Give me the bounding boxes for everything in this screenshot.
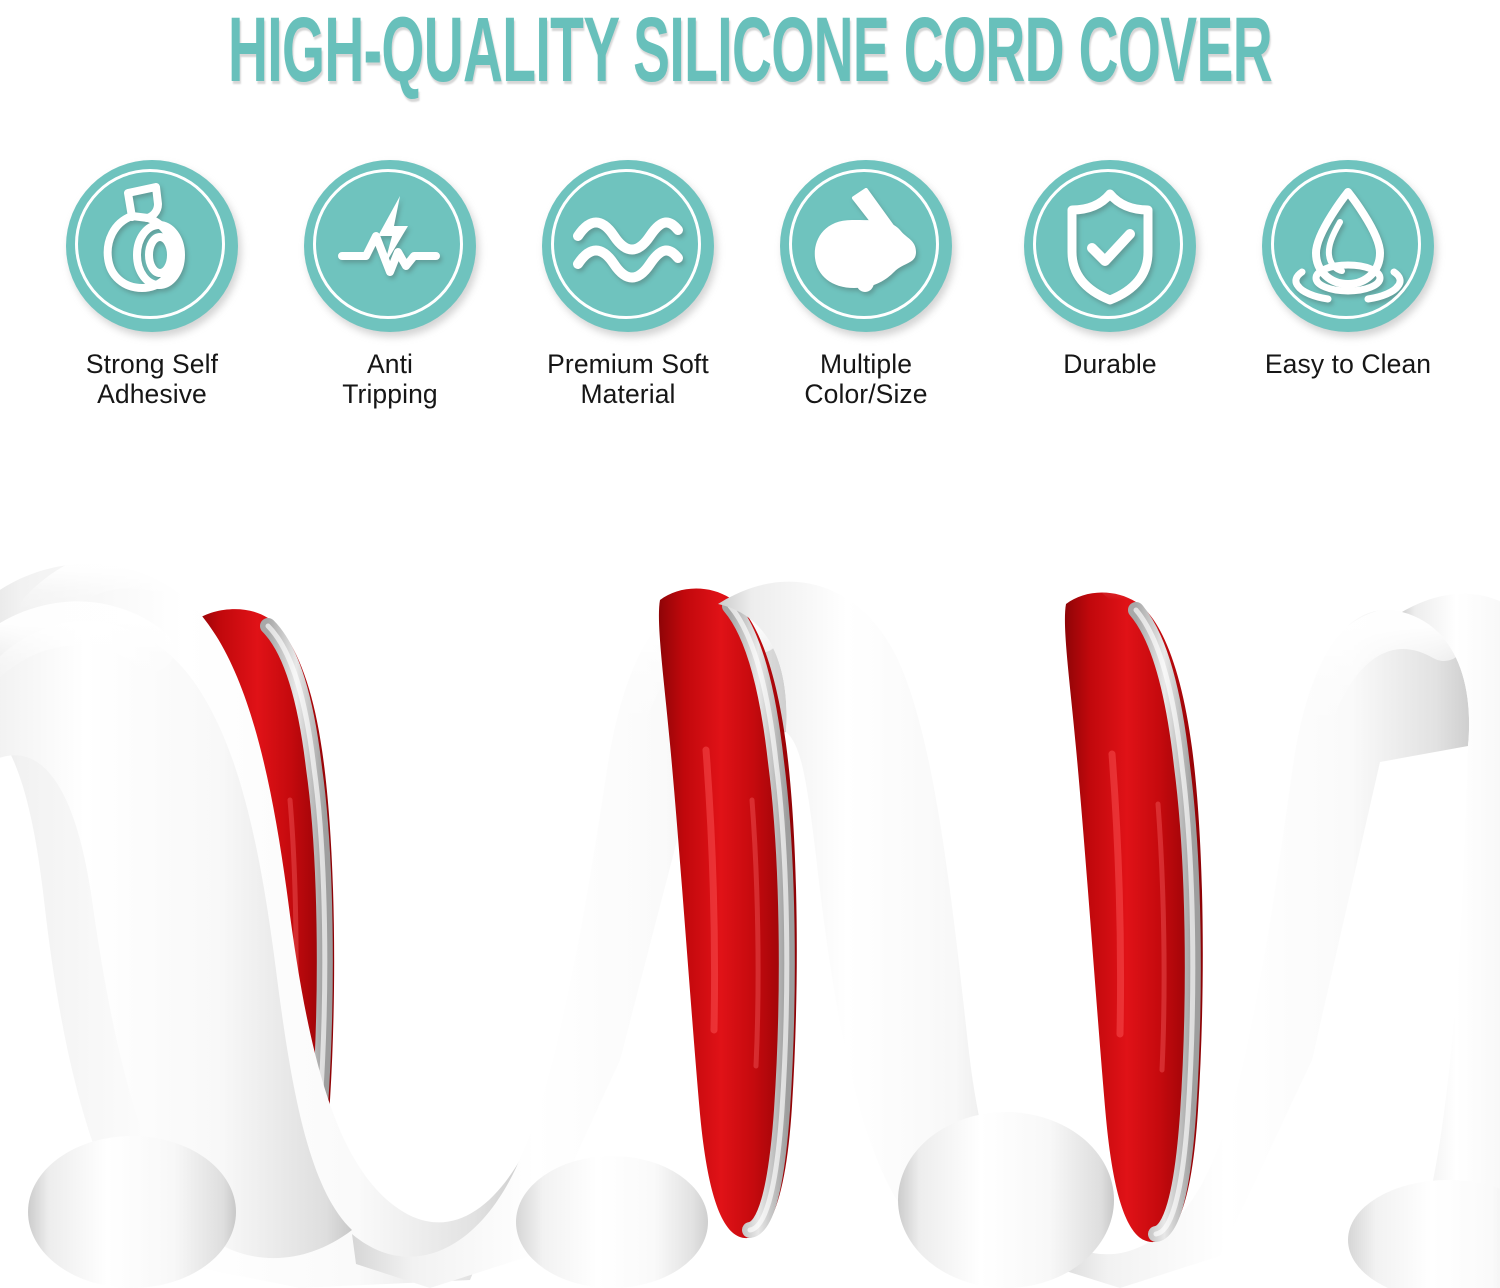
adhesive-tape-roll-icon	[66, 160, 238, 332]
page-title: HIGH-QUALITY SILICONE CORD COVER	[228, 4, 1272, 96]
feature-label: Premium Soft Material	[547, 350, 709, 409]
feature-label: Anti Tripping	[342, 350, 438, 409]
feature-item-premium-soft-material: Premium Soft Material	[508, 160, 748, 409]
wavy-lines-icon	[542, 160, 714, 332]
lightning-pulse-icon	[304, 160, 476, 332]
feature-item-multiple-color-size: Multiple Color/Size	[746, 160, 986, 409]
product-marketing-image: HIGH-QUALITY SILICONE CORD COVER	[0, 0, 1500, 1288]
feature-strip: Strong Self Adhesive Anti Tripping	[0, 160, 1500, 430]
feature-item-easy-to-clean: Easy to Clean	[1228, 160, 1468, 380]
feature-label: Multiple Color/Size	[804, 350, 927, 409]
water-droplet-ripple-icon	[1262, 160, 1434, 332]
product-photo-coiled-cord-cover	[0, 500, 1500, 1288]
feature-item-strong-self-adhesive: Strong Self Adhesive	[32, 160, 272, 409]
shield-check-icon	[1024, 160, 1196, 332]
feature-label: Durable	[1063, 350, 1157, 380]
feature-item-anti-tripping: Anti Tripping	[270, 160, 510, 409]
title-banner: HIGH-QUALITY SILICONE CORD COVER	[0, 0, 1500, 100]
feature-item-durable: Durable	[990, 160, 1230, 380]
feature-label: Strong Self Adhesive	[86, 350, 218, 409]
paint-palette-brush-icon	[780, 160, 952, 332]
feature-label: Easy to Clean	[1265, 350, 1431, 380]
